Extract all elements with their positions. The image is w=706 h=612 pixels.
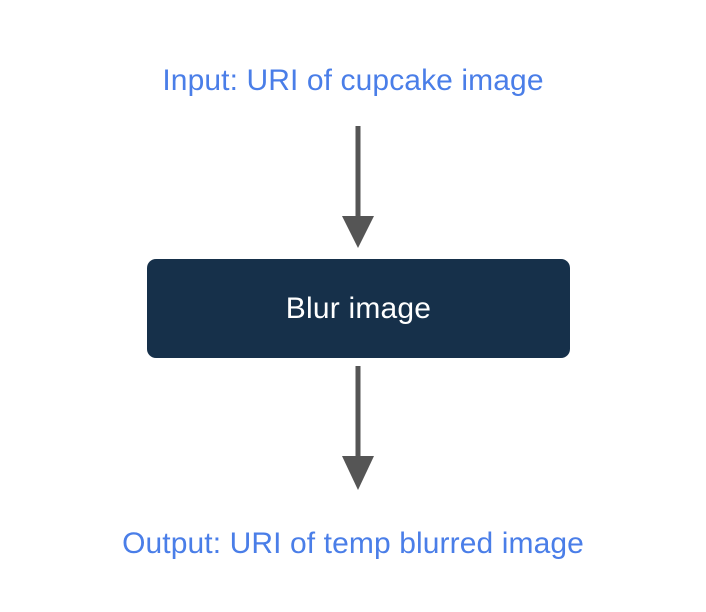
process-node-label: Blur image	[286, 292, 431, 326]
process-node-blur-image[interactable]: Blur image	[147, 259, 570, 358]
output-node-label: Output: URI of temp blurred image	[0, 527, 706, 561]
flow-diagram: Input: URI of cupcake image Blur image O…	[0, 0, 706, 612]
arrow-input-to-process	[0, 124, 706, 252]
input-node-label: Input: URI of cupcake image	[0, 64, 706, 98]
arrow-process-to-output	[0, 364, 706, 494]
